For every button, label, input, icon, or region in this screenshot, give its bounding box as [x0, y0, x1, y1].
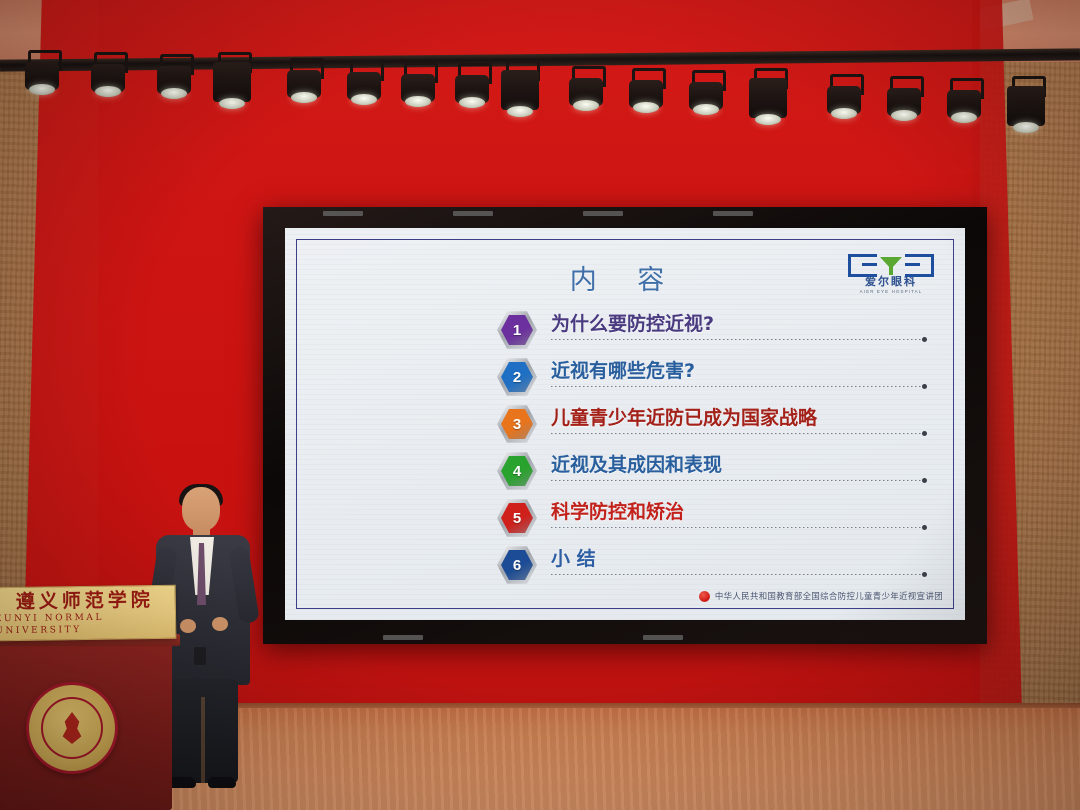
agenda-list: 1 为什么要防控近视? 2 近视有哪些危害? 3 儿童青少年近防已成为国家战略 [497, 306, 939, 588]
stage-photo: 内 容 爱尔眼科 AIER EYE HOSPITAL 1 为什么要防控近视? [0, 0, 1080, 810]
university-name-en: ZUNYI NORMAL UNIVERSITY [0, 611, 175, 638]
stage-light-icon [284, 58, 324, 106]
stage-light-icon [344, 60, 384, 108]
list-item-label: 为什么要防控近视? [551, 309, 714, 336]
presentation-slide[interactable]: 内 容 爱尔眼科 AIER EYE HOSPITAL 1 为什么要防控近视? [285, 228, 965, 620]
leader-line [551, 386, 923, 388]
slide-footer-text: 中华人民共和国教育部全国综合防控儿童青少年近视宣讲团 [715, 590, 943, 602]
presenter-leg-gap [201, 697, 205, 783]
moving-head-light-icon [1006, 76, 1046, 124]
presenter-shoe-left [168, 777, 196, 788]
university-crest [26, 682, 118, 774]
aier-eye-hospital-logo: 爱尔眼科 AIER EYE HOSPITAL [839, 256, 943, 296]
list-item[interactable]: 5 科学防控和矫治 [497, 494, 939, 541]
bezel-tab [713, 211, 753, 216]
bezel-tab [383, 635, 423, 640]
stage-light-icon [626, 68, 666, 116]
leader-line [551, 527, 923, 529]
list-item-label: 科学防控和矫治 [551, 497, 684, 524]
stage-light-icon [884, 76, 924, 124]
bezel-tab [323, 211, 363, 216]
logo-name-en: AIER EYE HOSPITAL [839, 288, 943, 295]
stage-light-icon [944, 78, 984, 126]
stage-light-icon [398, 62, 438, 110]
letter-e-left-icon [848, 254, 877, 277]
presenter-hand-right [212, 617, 228, 631]
bezel-tab [583, 211, 623, 216]
stage-light-icon [154, 54, 194, 102]
stage-light-icon [88, 52, 128, 100]
letter-e-right-icon [905, 254, 934, 277]
list-item-label: 儿童青少年近防已成为国家战略 [551, 403, 817, 430]
presenter-shoe-right [208, 777, 236, 788]
leader-line [551, 433, 923, 435]
list-item-label: 近视有哪些危害? [551, 356, 695, 383]
list-item-label: 小 结 [551, 544, 596, 571]
hexagon-badge: 1 [497, 310, 537, 350]
leader-line [551, 574, 923, 576]
list-item[interactable]: 1 为什么要防控近视? [497, 306, 939, 353]
stage-light-icon [686, 70, 726, 118]
university-name-cn: 遵义师范学院 [16, 589, 154, 613]
crest-inner-ring [41, 697, 103, 759]
list-item[interactable]: 3 儿童青少年近防已成为国家战略 [497, 400, 939, 447]
list-item-label: 近视及其成因和表现 [551, 450, 722, 477]
list-item[interactable]: 4 近视及其成因和表现 [497, 447, 939, 494]
stage-light-icon [452, 63, 492, 111]
stage-light-icon [566, 66, 606, 114]
podium-sign: 遵义师范学院 ZUNYI NORMAL UNIVERSITY [0, 585, 176, 642]
flame-icon [59, 712, 85, 744]
national-emblem-icon [699, 591, 710, 602]
presenter-remote [194, 647, 206, 665]
leader-line [551, 339, 923, 341]
list-item[interactable]: 6 小 结 [497, 541, 939, 588]
presenter-hand-left [180, 619, 196, 633]
bezel-tab [453, 211, 493, 216]
hexagon-badge: 6 [497, 545, 537, 585]
hexagon-badge: 3 [497, 404, 537, 444]
leader-line [551, 480, 923, 482]
slide-footer: 中华人民共和国教育部全国综合防控儿童青少年近视宣讲团 [285, 590, 943, 602]
stage-light-icon [22, 50, 62, 98]
moving-head-light-icon [748, 68, 788, 116]
hexagon-badge: 4 [497, 451, 537, 491]
letter-y-icon [880, 257, 902, 275]
moving-head-light-icon [212, 52, 252, 100]
moving-head-light-icon [500, 60, 540, 108]
bezel-tab [643, 635, 683, 640]
list-item[interactable]: 2 近视有哪些危害? [497, 353, 939, 400]
eye-wordmark-icon [839, 256, 943, 275]
presenter-head [182, 487, 220, 531]
hexagon-badge: 5 [497, 498, 537, 538]
hexagon-badge: 2 [497, 357, 537, 397]
stage-light-icon [824, 74, 864, 122]
